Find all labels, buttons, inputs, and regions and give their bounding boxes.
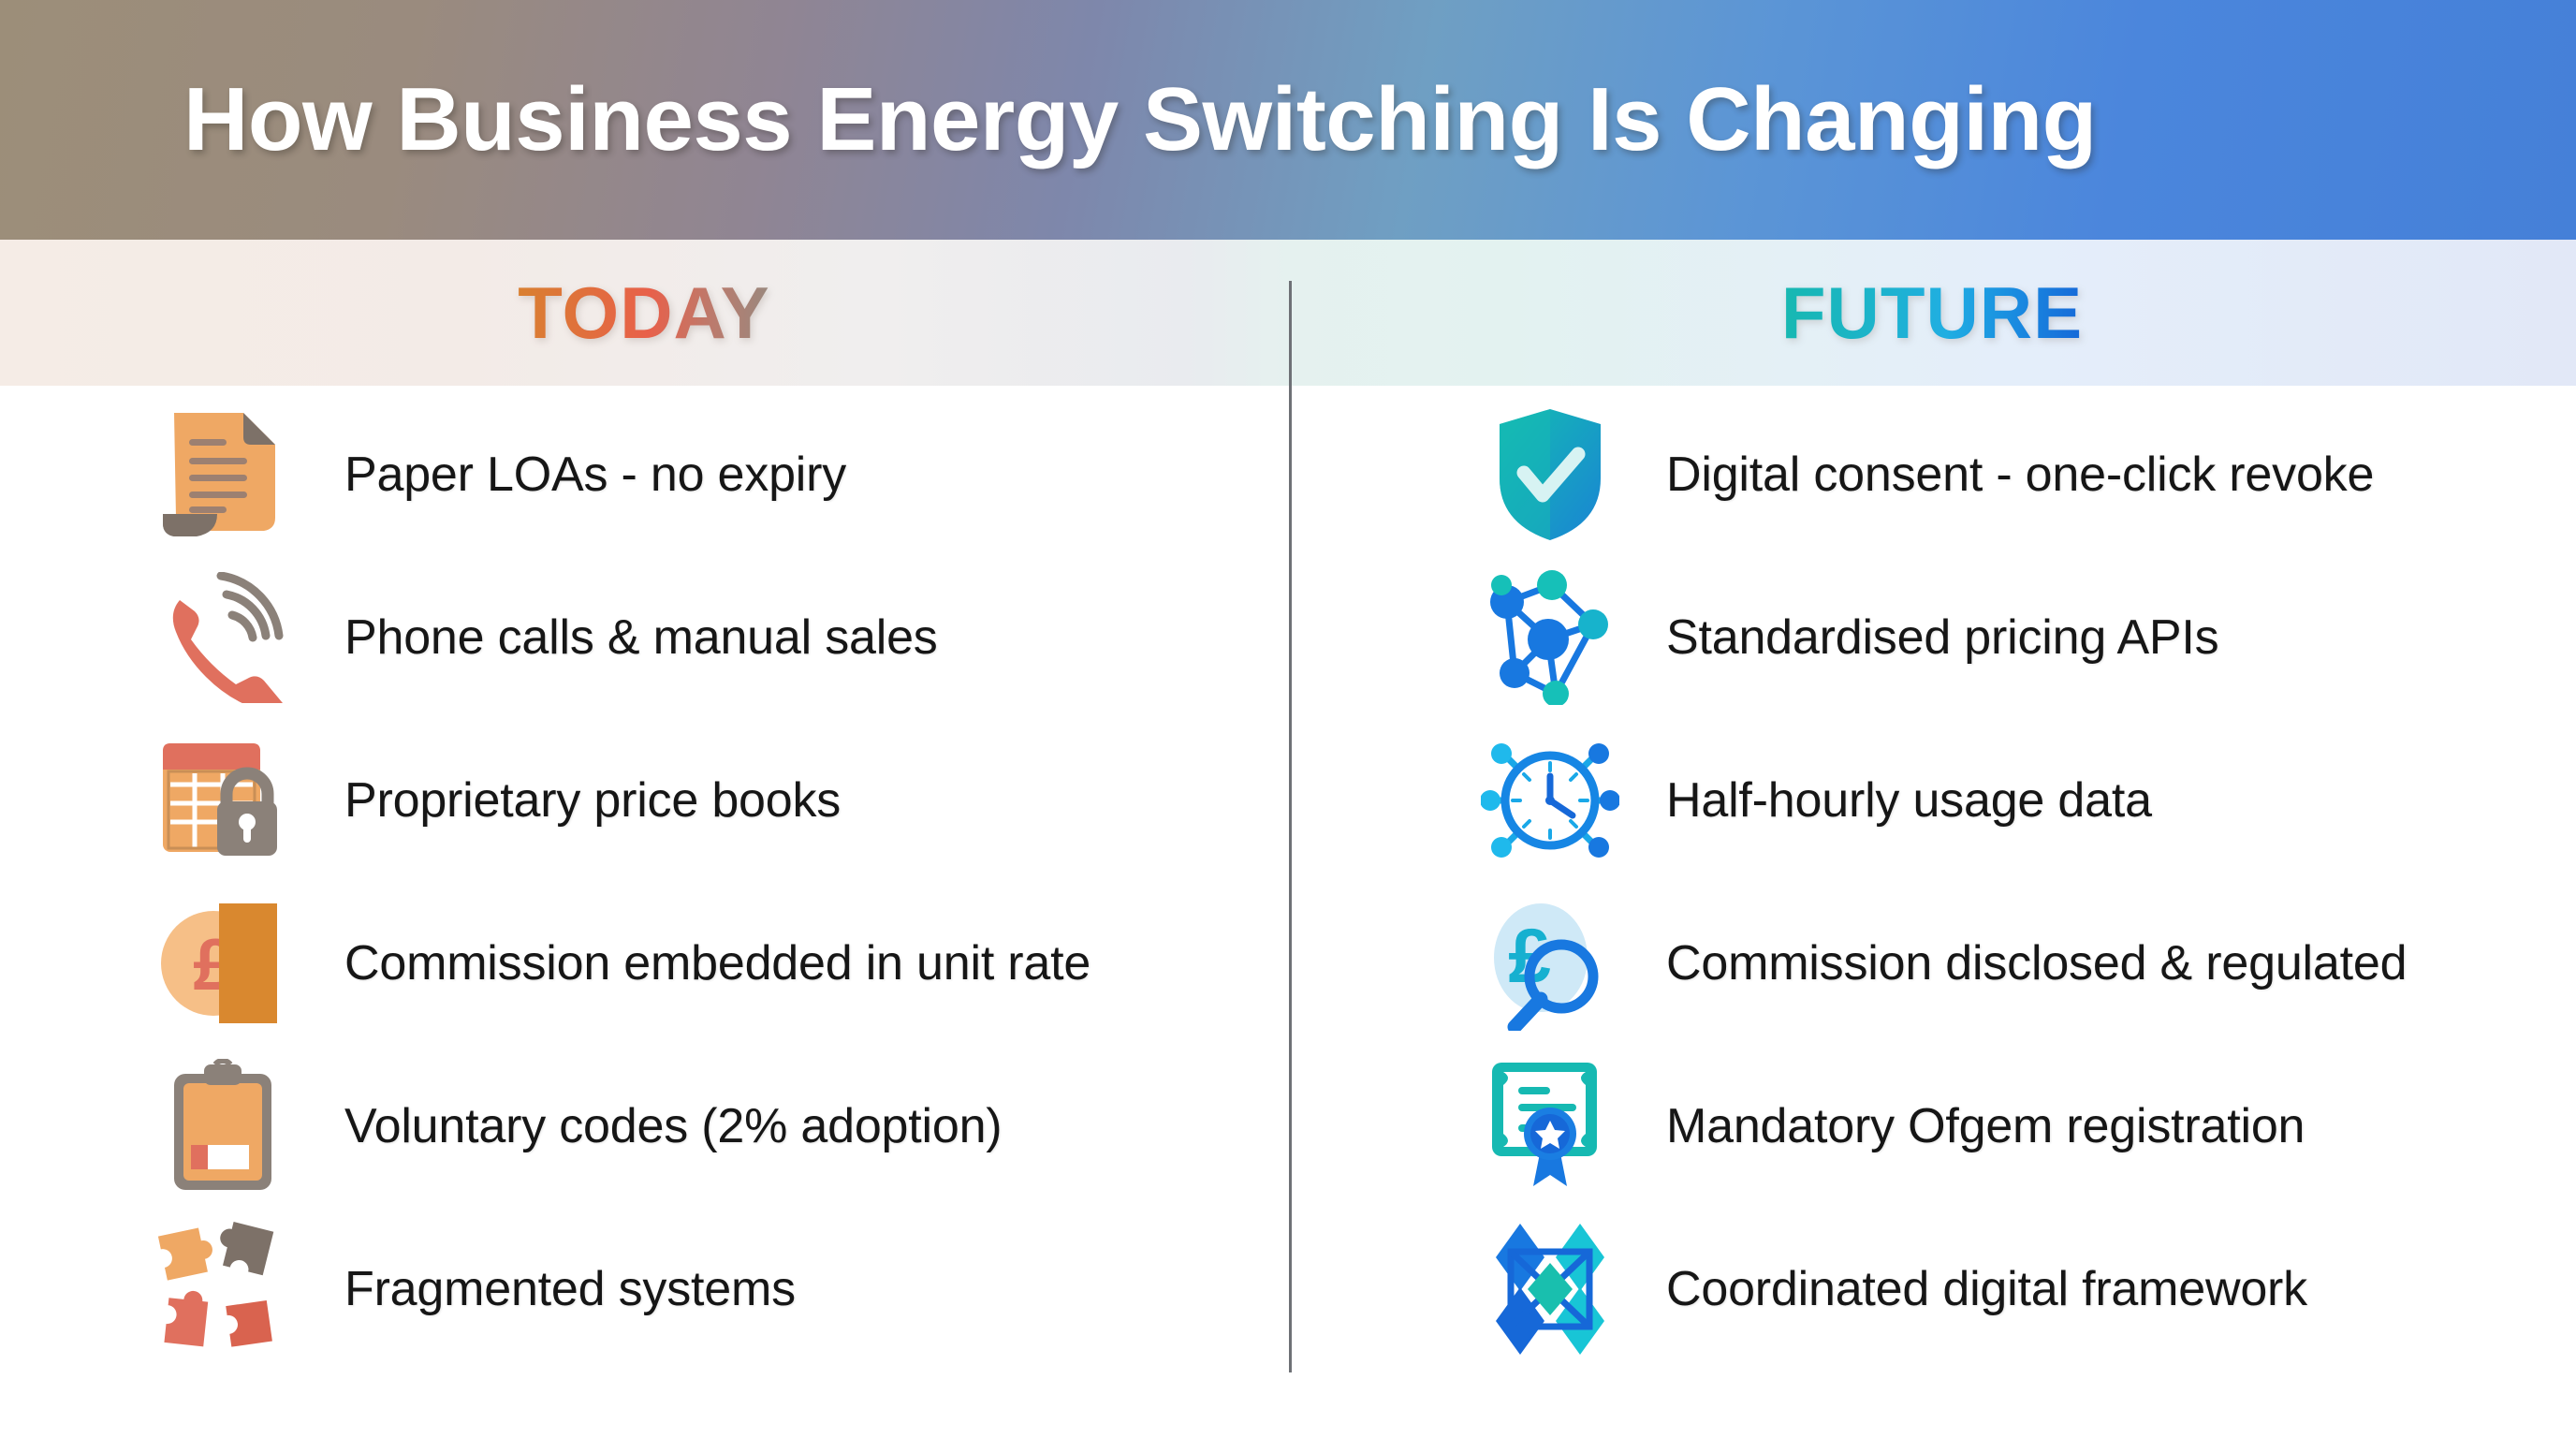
list-item-label: Commission disclosed & regulated xyxy=(1666,935,2407,991)
clipboard-icon xyxy=(131,1045,318,1208)
locked-spreadsheet-icon xyxy=(131,719,318,882)
list-item: Standardised pricing APIs xyxy=(1288,556,2576,719)
list-item-label: Voluntary codes (2% adoption) xyxy=(344,1098,1002,1154)
page-header: How Business Energy Switching Is Changin… xyxy=(0,0,2576,240)
list-item-label: Commission embedded in unit rate xyxy=(344,935,1090,991)
future-heading-cell: FUTURE xyxy=(1288,240,2576,386)
list-item-label: Fragmented systems xyxy=(344,1261,796,1317)
list-item-label: Half-hourly usage data xyxy=(1666,772,2152,829)
list-item: Paper LOAs - no expiry xyxy=(0,393,1288,556)
list-item-label: Standardised pricing APIs xyxy=(1666,609,2218,666)
list-item: Proprietary price books xyxy=(0,719,1288,882)
today-heading: TODAY xyxy=(518,271,769,356)
list-item: Digital consent - one-click revoke xyxy=(1288,393,2576,556)
scattered-puzzle-pieces-icon xyxy=(131,1208,318,1371)
page-title: How Business Energy Switching Is Changin… xyxy=(183,68,2097,171)
list-item-label: Mandatory Ofgem registration xyxy=(1666,1098,2305,1154)
list-item-label: Digital consent - one-click revoke xyxy=(1666,447,2374,503)
list-item: Coordinated digital framework xyxy=(1288,1208,2576,1371)
list-item: Phone calls & manual sales xyxy=(0,556,1288,719)
paper-document-icon xyxy=(131,393,318,556)
list-item-label: Phone calls & manual sales xyxy=(344,609,938,666)
future-heading: FUTURE xyxy=(1781,271,2083,356)
list-item: Voluntary codes (2% adoption) xyxy=(0,1045,1288,1208)
column-headings-band: TODAY FUTURE xyxy=(0,240,2576,386)
certificate-award-icon xyxy=(1456,1045,1644,1208)
list-item: Half-hourly usage data xyxy=(1288,719,2576,882)
diamond-framework-icon xyxy=(1456,1208,1644,1371)
pound-magnifier-icon: £ xyxy=(1456,882,1644,1045)
shield-check-icon xyxy=(1456,393,1644,556)
phone-handset-icon xyxy=(131,556,318,719)
future-column: Digital consent - one-click revoke Stand… xyxy=(1288,386,2576,1397)
today-heading-cell: TODAY xyxy=(0,240,1288,386)
list-item-label: Paper LOAs - no expiry xyxy=(344,447,846,503)
list-item: Fragmented systems xyxy=(0,1208,1288,1371)
list-item: £ Commission embedded in unit rate xyxy=(0,882,1288,1045)
list-item: Mandatory Ofgem registration xyxy=(1288,1045,2576,1208)
list-item-label: Proprietary price books xyxy=(344,772,841,829)
clock-data-icon xyxy=(1456,719,1644,882)
list-item: £ Commission disclosed & regulated xyxy=(1288,882,2576,1045)
hidden-pound-coin-icon: £ xyxy=(131,882,318,1045)
list-item-label: Coordinated digital framework xyxy=(1666,1261,2307,1317)
network-nodes-icon xyxy=(1456,556,1644,719)
today-column: Paper LOAs - no expiry Phone calls & man… xyxy=(0,386,1288,1397)
